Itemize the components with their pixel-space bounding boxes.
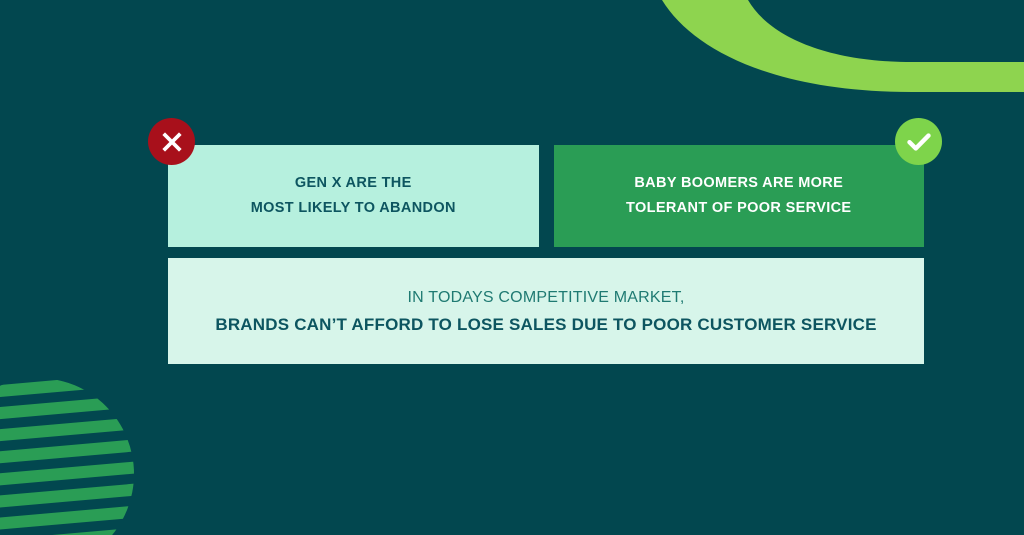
comparison-cards-row: GEN X ARE THE MOST LIKELY TO ABANDON BAB… xyxy=(168,145,924,247)
card-gen-x: GEN X ARE THE MOST LIKELY TO ABANDON xyxy=(168,145,539,247)
cross-icon xyxy=(148,118,195,165)
card-gen-x-line-2: MOST LIKELY TO ABANDON xyxy=(251,196,456,221)
infographic-canvas: GEN X ARE THE MOST LIKELY TO ABANDON BAB… xyxy=(0,0,1024,535)
striped-circle-shape xyxy=(0,378,134,535)
card-baby-boomers-line-2: TOLERANT OF POOR SERVICE xyxy=(626,196,851,221)
check-icon xyxy=(895,118,942,165)
card-baby-boomers: BABY BOOMERS ARE MORE TOLERANT OF POOR S… xyxy=(554,145,925,247)
ribbon-swoosh-shape xyxy=(620,0,1024,120)
statement-line-1: IN TODAYS COMPETITIVE MARKET, xyxy=(408,285,685,311)
statement-banner: IN TODAYS COMPETITIVE MARKET, BRANDS CAN… xyxy=(168,258,924,364)
card-baby-boomers-line-1: BABY BOOMERS ARE MORE xyxy=(634,171,843,196)
statement-line-2: BRANDS CAN’T AFFORD TO LOSE SALES DUE TO… xyxy=(215,311,876,338)
card-gen-x-line-1: GEN X ARE THE xyxy=(295,171,412,196)
